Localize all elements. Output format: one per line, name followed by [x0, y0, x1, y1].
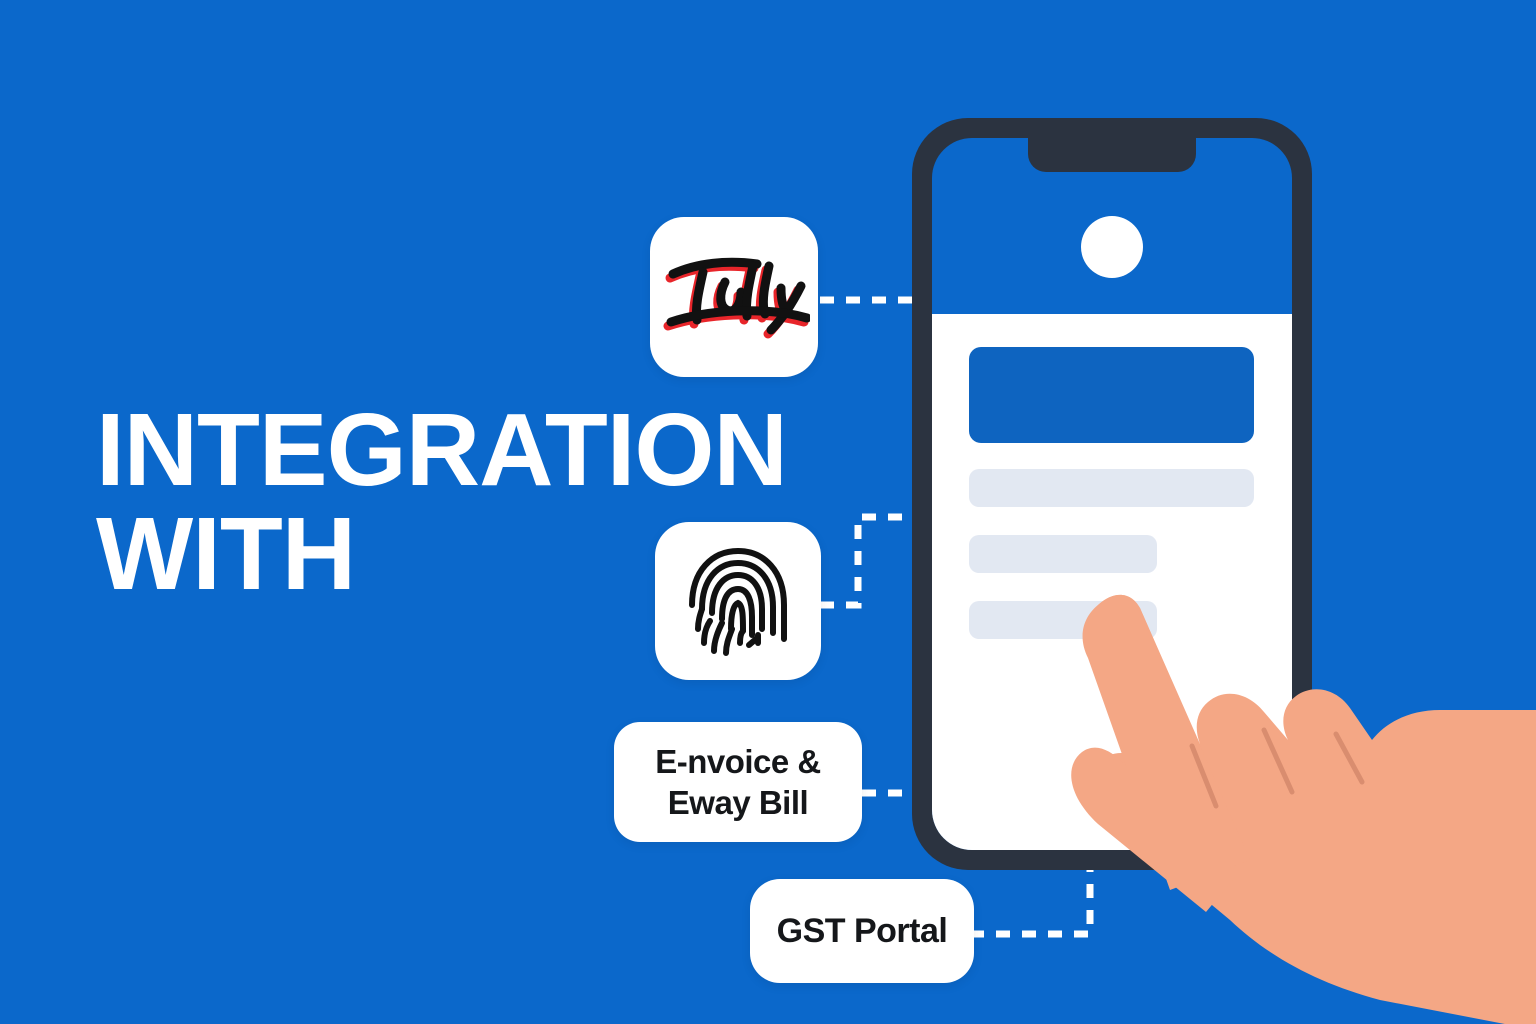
card-einvoice-label: E-nvoice & Eway Bill [655, 741, 821, 823]
phone-notch [1028, 138, 1196, 172]
skeleton-bar-1[interactable] [969, 469, 1254, 507]
pointing-hand [1020, 560, 1536, 1024]
avatar [1081, 216, 1143, 278]
tally-logo-icon [658, 252, 810, 342]
card-einvoice[interactable]: E-nvoice & Eway Bill [614, 722, 862, 842]
fingerprint-icon [686, 543, 790, 659]
banner-canvas: INTEGRATION WITH [0, 0, 1536, 1024]
card-gst[interactable]: GST Portal [750, 879, 974, 983]
card-gst-label: GST Portal [777, 911, 948, 952]
card-tally[interactable] [650, 217, 818, 377]
card-fingerprint[interactable] [655, 522, 821, 680]
hero-block[interactable] [969, 347, 1254, 443]
